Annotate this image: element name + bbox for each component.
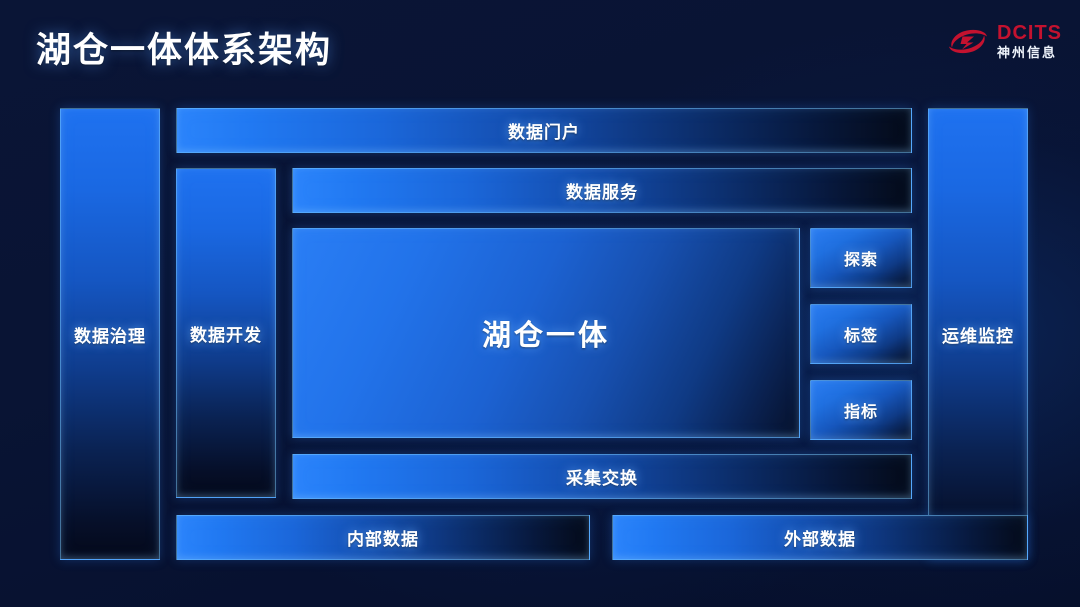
panel-lakehouse-core-label: 湖仓一体: [482, 312, 610, 354]
panel-module-metric-label: 指标: [844, 398, 878, 422]
panel-data-portal[interactable]: 数据门户: [176, 108, 912, 153]
panel-data-service-label: 数据服务: [566, 178, 638, 203]
panel-internal-data-label: 内部数据: [347, 525, 419, 550]
brand-name: DCITS: [997, 23, 1062, 43]
dcits-swirl-icon: [946, 24, 990, 58]
panel-collect-exchange[interactable]: 采集交换: [292, 454, 912, 499]
panel-data-development[interactable]: 数据开发: [176, 168, 276, 498]
panel-lakehouse-core[interactable]: 湖仓一体: [292, 228, 800, 438]
panel-module-metric[interactable]: 指标: [810, 380, 912, 440]
panel-module-tag-label: 标签: [844, 322, 878, 346]
panel-data-governance[interactable]: 数据治理: [60, 108, 160, 560]
brand-sub: 神州信息: [997, 46, 1062, 59]
panel-module-tag[interactable]: 标签: [810, 304, 912, 364]
panel-internal-data[interactable]: 内部数据: [176, 515, 590, 560]
panel-data-governance-label: 数据治理: [74, 322, 146, 347]
brand-text: DCITS 神州信息: [997, 23, 1062, 59]
panel-data-development-label: 数据开发: [190, 321, 262, 346]
panel-collect-exchange-label: 采集交换: [566, 464, 638, 489]
panel-external-data[interactable]: 外部数据: [612, 515, 1028, 560]
page-title: 湖仓一体体系架构: [36, 22, 332, 73]
panel-module-explore[interactable]: 探索: [810, 228, 912, 288]
panel-data-portal-label: 数据门户: [508, 118, 580, 143]
panel-module-explore-label: 探索: [844, 246, 878, 270]
panel-external-data-label: 外部数据: [784, 525, 856, 550]
brand-logo: DCITS 神州信息: [946, 18, 1062, 64]
panel-ops-monitoring-label: 运维监控: [942, 322, 1014, 347]
panel-data-service[interactable]: 数据服务: [292, 168, 912, 213]
panel-ops-monitoring[interactable]: 运维监控: [928, 108, 1028, 560]
architecture-slide: 湖仓一体体系架构 DCITS 神州信息 数据治理 运维监控 数据门户 数据开发 …: [0, 0, 1080, 607]
